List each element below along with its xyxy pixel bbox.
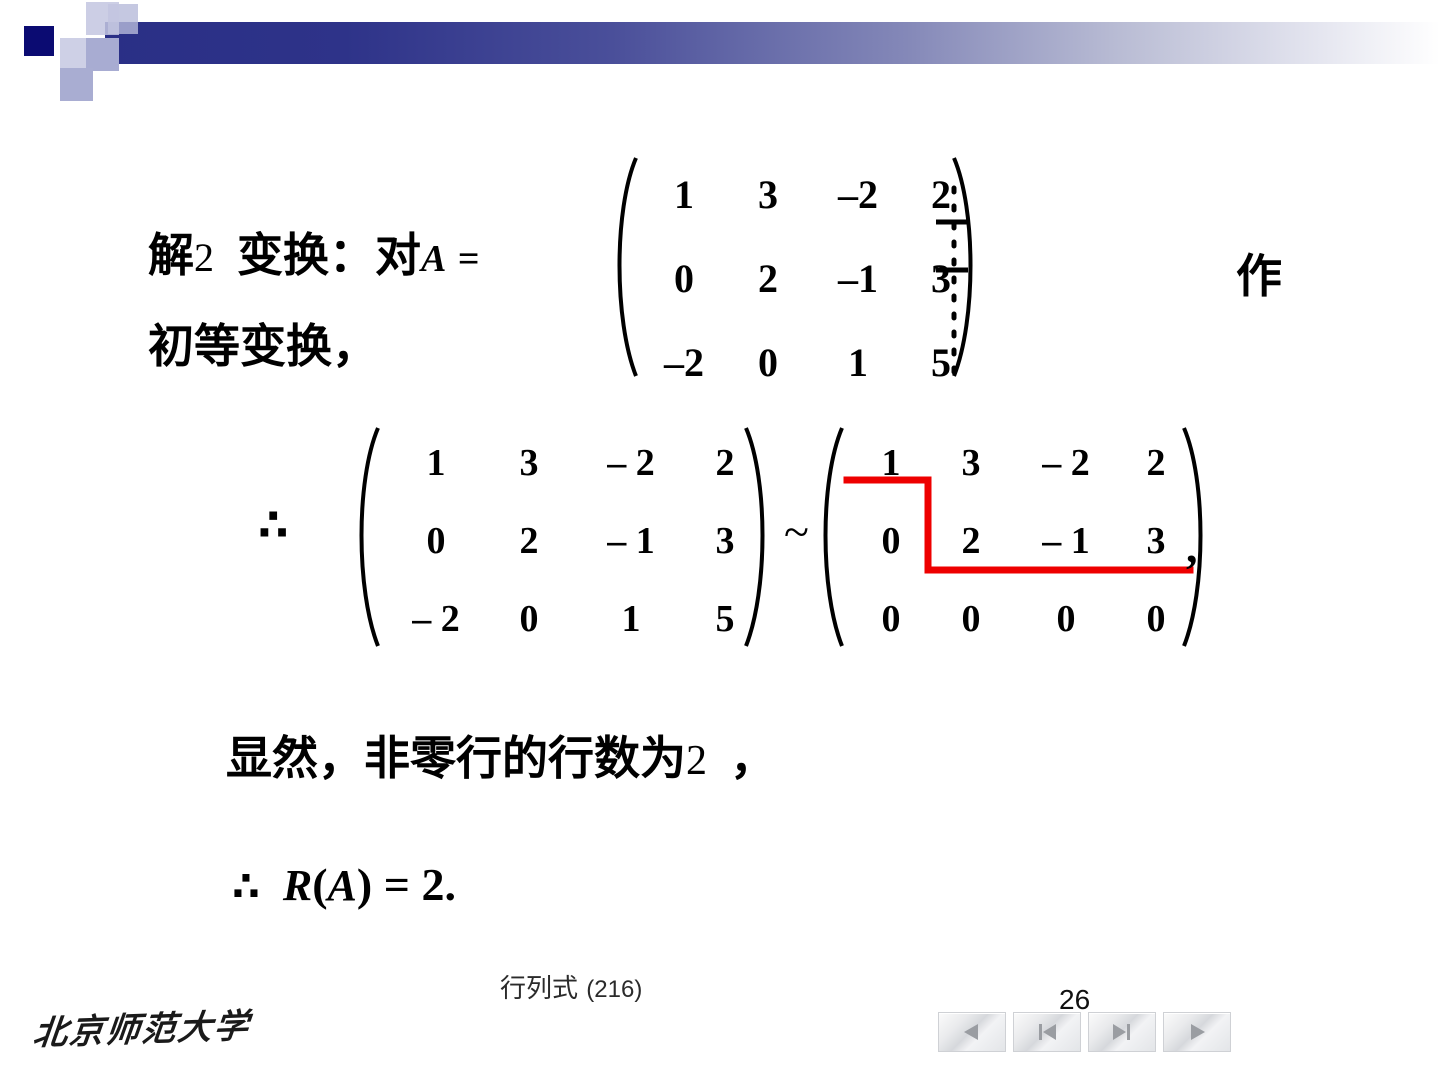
triangle-right-icon xyxy=(1183,1021,1211,1043)
matrix2-cells: 1 3 – 2 2 0 2 – 1 3 – 2 0 1 5 xyxy=(390,424,764,658)
rank-function-symbol: R xyxy=(283,861,312,910)
augmented-matrix-a: 1 3 –2 2 0 2 –1 3 –2 0 1 5 xyxy=(606,140,986,390)
m2-cell-2-2: 1 xyxy=(576,580,686,658)
m3-cell-1-1: 2 xyxy=(928,502,1014,580)
m3-cell-2-2: 0 xyxy=(1014,580,1118,658)
dui-word: 对 xyxy=(375,228,421,282)
observation-comma: ， xyxy=(730,731,776,785)
matrix3-cells: 1 3 – 2 2 0 2 – 1 3 0 0 0 0 xyxy=(854,424,1194,658)
m2-cell-2-3: 5 xyxy=(686,580,764,658)
transform-word: 变换 xyxy=(237,228,329,282)
decor-square-navy xyxy=(24,26,54,56)
m3-cell-1-0: 0 xyxy=(854,502,928,580)
navigation-bar[interactable] xyxy=(938,1012,1231,1052)
m2-cell-1-2: – 1 xyxy=(576,502,686,580)
m3-cell-0-0: 1 xyxy=(854,424,928,502)
conclusion-equals: = xyxy=(384,859,410,910)
m2-cell-2-0: – 2 xyxy=(390,580,482,658)
elementary-transform-text: 初等变换， xyxy=(148,319,378,373)
m2-cell-1-0: 0 xyxy=(390,502,482,580)
solution-line-1: 解2 变换：对A = xyxy=(148,232,480,279)
m3-cell-2-3: 0 xyxy=(1118,580,1194,658)
m2-cell-1-1: 2 xyxy=(482,502,576,580)
observation-text: 显然，非零行的行数为 xyxy=(226,731,686,785)
footer-subject: 行列式 xyxy=(500,974,578,1004)
m2-cell-0-3: 2 xyxy=(686,424,764,502)
last-button[interactable] xyxy=(1088,1012,1156,1052)
decor-square-light-a xyxy=(86,2,119,35)
m3-cell-0-3: 2 xyxy=(1118,424,1194,502)
m3-cell-2-1: 0 xyxy=(928,580,1014,658)
conclusion-line: ∴ R(A) = 2. xyxy=(232,858,456,911)
zuo-trailing-char: 作 xyxy=(1236,240,1282,306)
decor-square-bottom xyxy=(60,68,93,101)
decor-square-mid xyxy=(86,38,119,71)
observation-line: 显然，非零行的行数为2 ， xyxy=(226,722,776,788)
conclusion-value: 2. xyxy=(421,859,456,910)
m2-cell-0-2: – 2 xyxy=(576,424,686,502)
m3-cell-1-3: 3 xyxy=(1118,502,1194,580)
university-logo: 北京师范大学 xyxy=(31,998,253,1055)
nonzero-row-count: 2 xyxy=(686,738,707,784)
matrix-variable-a: A xyxy=(421,238,446,280)
header-decoration xyxy=(0,0,1440,100)
m2-cell-2-1: 0 xyxy=(482,580,576,658)
solution-label: 解 xyxy=(148,228,194,282)
prev-button[interactable] xyxy=(938,1012,1006,1052)
matrix-row-echelon: 1 3 – 2 2 0 2 – 1 3 0 0 0 0 xyxy=(818,418,1208,658)
m3-cell-1-2: – 1 xyxy=(1014,502,1118,580)
m3-cell-0-1: 3 xyxy=(928,424,1014,502)
m2-cell-0-0: 1 xyxy=(390,424,482,502)
m2-cell-0-1: 3 xyxy=(482,424,576,502)
m2-cell-1-3: 3 xyxy=(686,502,764,580)
triangle-left-icon xyxy=(958,1021,986,1043)
therefore-symbol-row2: ∴ xyxy=(258,500,289,551)
conclusion-open-paren: ( xyxy=(312,859,327,910)
colon-glyph: ： xyxy=(329,228,375,282)
skip-to-end-icon xyxy=(1108,1021,1136,1043)
matrix1-dotted-artifact xyxy=(606,140,986,390)
header-gradient-band xyxy=(105,22,1440,64)
therefore-symbol-conclusion: ∴ xyxy=(232,864,260,910)
solution-number: 2 xyxy=(194,235,214,280)
footer-center-label: 行列式 (216) xyxy=(500,968,642,1005)
skip-to-start-icon xyxy=(1033,1021,1061,1043)
equals-sign: = xyxy=(458,238,480,280)
next-button[interactable] xyxy=(1163,1012,1231,1052)
conclusion-argument: A xyxy=(328,861,357,910)
conclusion-close-paren: ) xyxy=(357,859,372,910)
solution-line-2: 初等变换， xyxy=(148,310,378,376)
m3-cell-0-2: – 2 xyxy=(1014,424,1118,502)
comma-after-matrix3: , xyxy=(1186,520,1198,573)
first-button[interactable] xyxy=(1013,1012,1081,1052)
matrix-original: 1 3 – 2 2 0 2 – 1 3 – 2 0 1 5 xyxy=(346,418,776,658)
m3-cell-2-0: 0 xyxy=(854,580,928,658)
equivalence-tilde: ~ xyxy=(784,505,809,558)
footer-count: (216) xyxy=(586,976,642,1003)
